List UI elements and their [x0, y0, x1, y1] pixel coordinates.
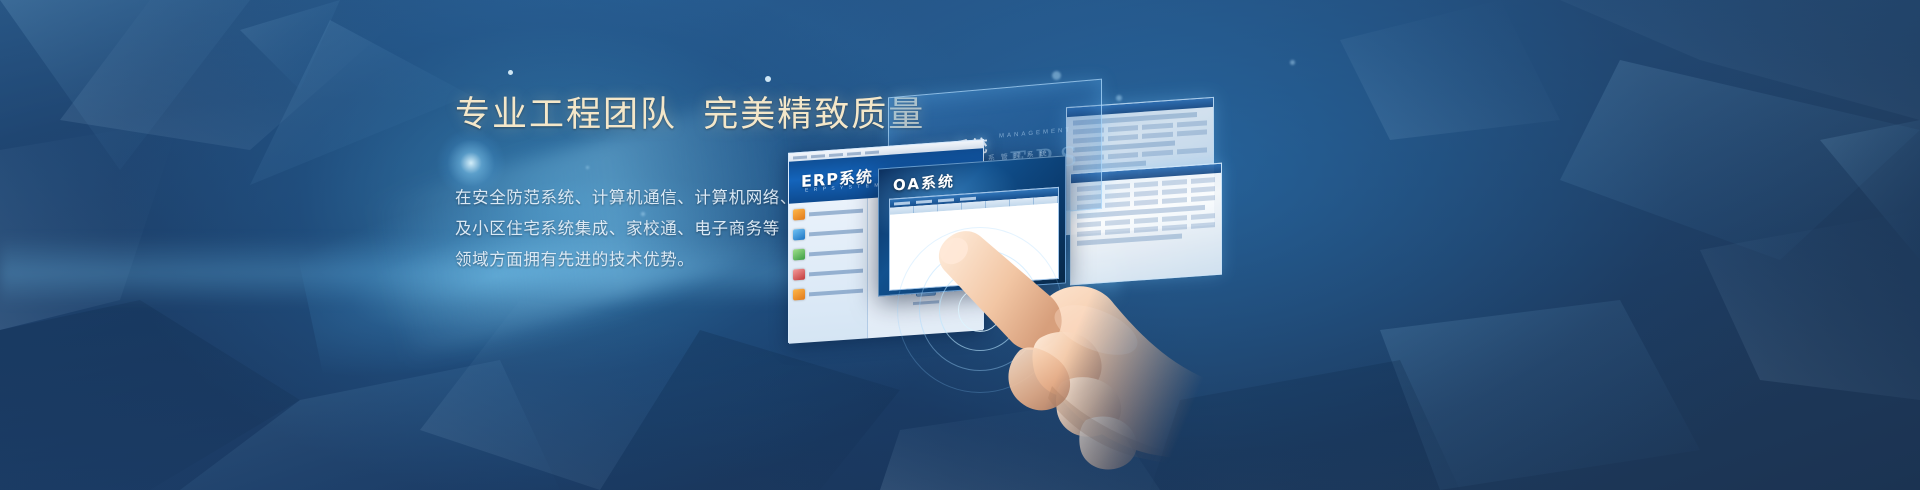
settings-icon — [793, 289, 805, 301]
hero-banner: 专业工程团队 完美精致质量 在安全防范系统、计算机通信、计算机网络、智能大厦 及… — [0, 0, 1920, 490]
flow-node-label — [913, 300, 939, 305]
erp-menu-item — [793, 285, 863, 301]
software-screens-cluster: EPS CRM系统 客 户 关 系 管 理 系 统 MANAGEMENT ERP… — [770, 40, 1230, 340]
oa-table-body — [890, 203, 1058, 290]
monitor-icon — [793, 249, 805, 261]
erp-menu-item — [793, 245, 863, 261]
database-icon — [793, 229, 805, 241]
folder-icon — [793, 209, 805, 221]
erp-menu — [789, 198, 867, 343]
erp-menu-item — [793, 265, 863, 281]
bokeh-dot — [508, 70, 513, 75]
crm-footer-text: MANAGEMENT — [999, 127, 1072, 139]
erp-menu-item — [793, 205, 863, 221]
oa-screen: OA系统 — [878, 155, 1066, 296]
oa-data-grid — [889, 187, 1059, 291]
erp-menu-item — [793, 225, 863, 241]
bokeh-dot — [1290, 60, 1295, 65]
report-icon — [793, 269, 805, 281]
oa-title: OA系统 — [893, 170, 955, 195]
